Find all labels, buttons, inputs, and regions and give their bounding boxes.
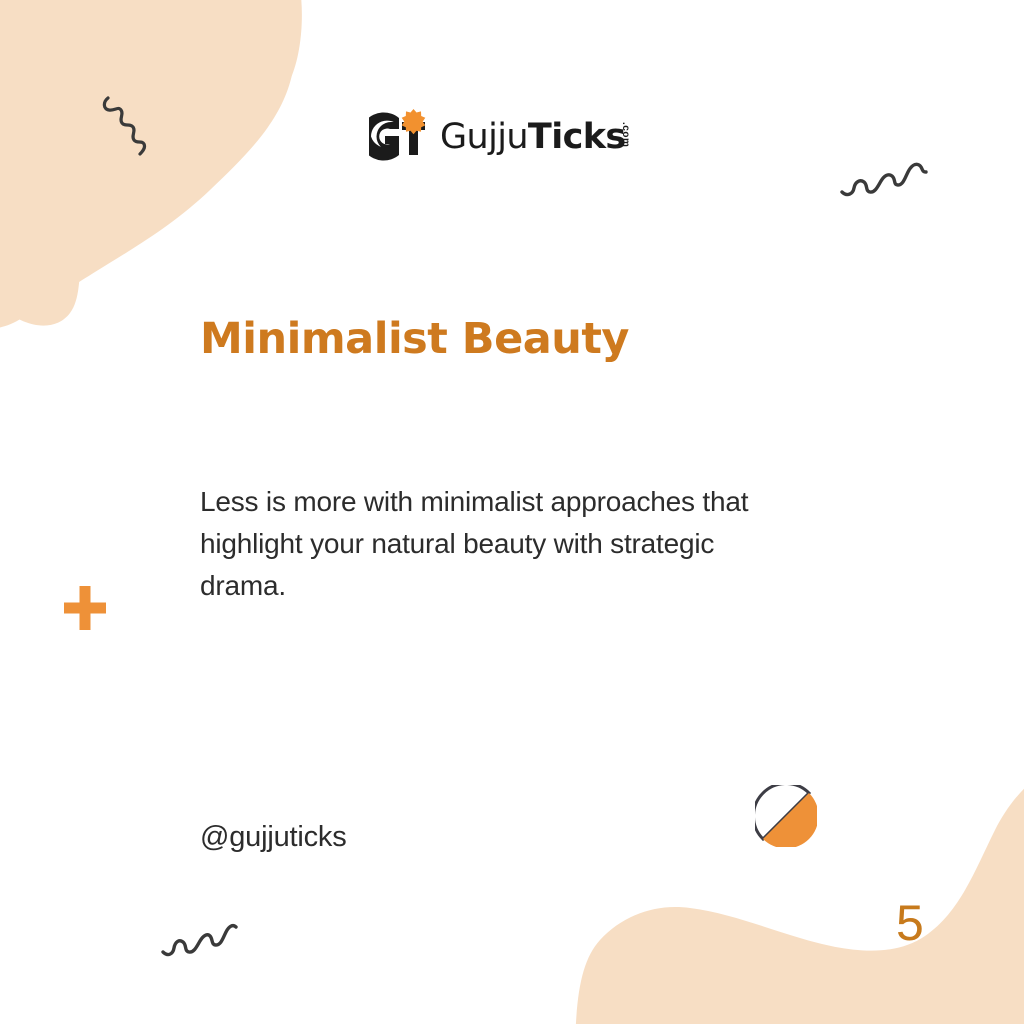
gt-monogram-icon <box>369 108 431 166</box>
blob-bottom-right-b <box>628 798 1024 1024</box>
logo-dotcom: .com <box>620 122 630 147</box>
page-title: Minimalist Beauty <box>200 314 629 364</box>
body-text: Less is more with minimalist approaches … <box>200 481 800 607</box>
squiggle-icon <box>160 898 240 960</box>
blob-bottom-right <box>575 760 1024 1024</box>
logo-word-bold: Ticks <box>528 117 626 157</box>
logo-word-light: Gujju <box>440 117 528 157</box>
social-post-canvas: GujjuTicks .com Minimalist Beauty Less i… <box>0 0 1024 1024</box>
social-handle: @gujjuticks <box>200 821 347 854</box>
plus-icon <box>64 586 106 630</box>
page-number: 5 <box>896 898 924 948</box>
brand-logo: GujjuTicks .com <box>0 108 1024 166</box>
logo-wordmark: GujjuTicks <box>440 120 626 155</box>
flower-burst <box>402 109 426 134</box>
split-circle-icon <box>755 785 817 847</box>
